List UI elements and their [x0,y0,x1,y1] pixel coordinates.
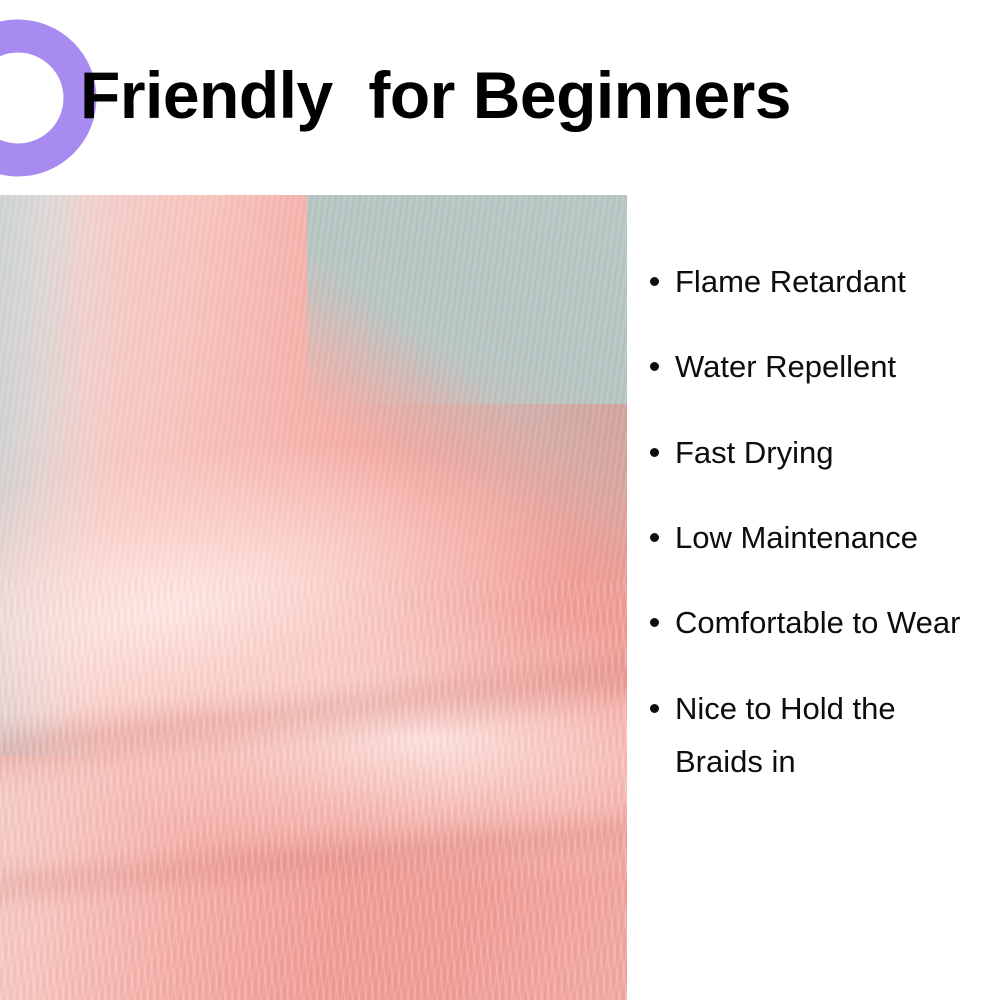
feature-label: Fast Drying [675,435,833,470]
list-item: Low Maintenance [648,511,978,564]
bullet-icon [650,277,659,286]
page-title: Friendly for Beginners [80,62,791,128]
infographic-canvas: Friendly for Beginners Flame Retardant W… [0,0,1000,1000]
bullet-icon [650,618,659,627]
bullet-icon [650,533,659,542]
list-item: Water Repellent [648,340,978,393]
list-item: Comfortable to Wear [648,596,978,649]
list-item: Fast Drying [648,426,978,479]
photo-layers [0,195,627,1000]
feature-label: Comfortable to Wear [675,605,960,640]
bullet-icon [650,448,659,457]
photo-soft-vignette [0,195,627,1000]
feature-label: Nice to Hold the Braids in [675,691,896,779]
bullet-icon [650,704,659,713]
feature-label: Water Repellent [675,349,896,384]
list-item: Flame Retardant [648,255,978,308]
list-item: Nice to Hold the Braids in [648,682,978,789]
bullet-icon [650,362,659,371]
feature-list: Flame Retardant Water Repellent Fast Dry… [648,255,978,788]
feature-label: Flame Retardant [675,264,906,299]
product-photo [0,195,627,1000]
feature-label: Low Maintenance [675,520,918,555]
